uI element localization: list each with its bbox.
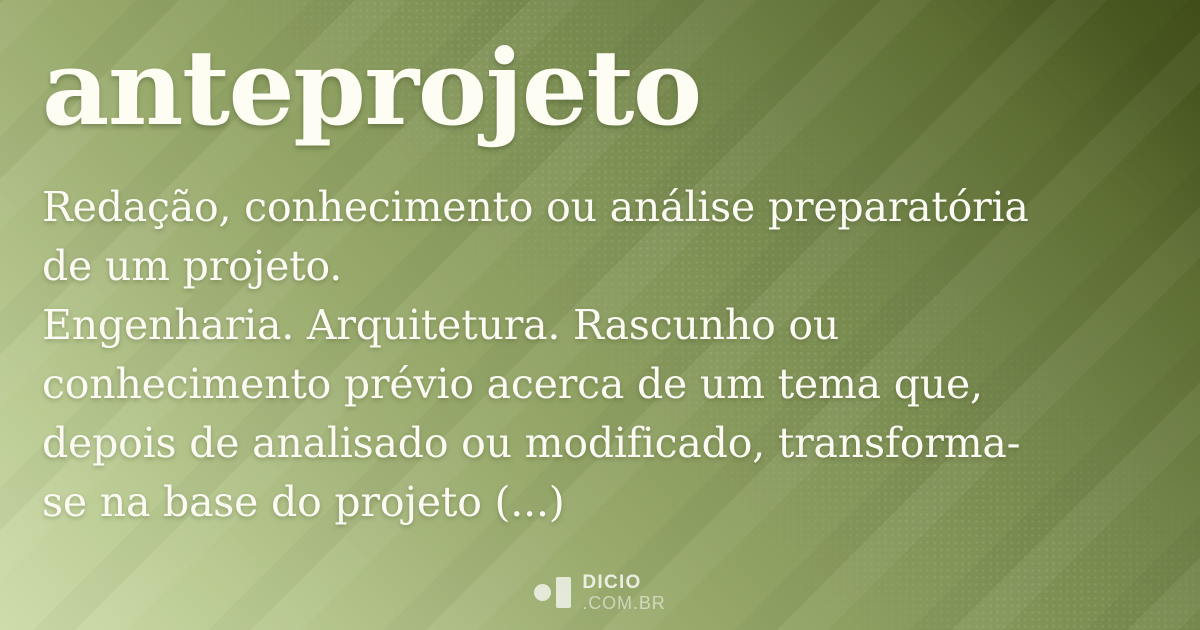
definition-line: Redação, conhecimento ou análise prepara… — [42, 178, 1166, 237]
dicio-definition-card: anteprojeto Redação, conhecimento ou aná… — [0, 0, 1200, 630]
definition-line: conhecimento prévio acerca de um tema qu… — [42, 355, 1166, 414]
logo-tld: .COM.BR — [582, 594, 665, 612]
definition-block: Redação, conhecimento ou análise prepara… — [42, 178, 1166, 532]
dicio-logo: DICIO .COM.BR — [0, 573, 1200, 612]
card-content: anteprojeto Redação, conhecimento ou aná… — [0, 0, 1200, 630]
logo-name: DICIO — [582, 573, 665, 592]
page-title: anteprojeto — [42, 30, 701, 146]
logo-bar-icon — [556, 577, 571, 608]
logo-circle-icon — [534, 584, 551, 601]
logo-mark-icon — [534, 577, 571, 608]
definition-line: se na base do projeto (...) — [42, 473, 1166, 532]
definition-line: Engenharia. Arquitetura. Rascunho ou — [42, 296, 1166, 355]
definition-line: de um projeto. — [42, 237, 1166, 296]
logo-wordmark: DICIO .COM.BR — [582, 573, 665, 612]
definition-line: depois de analisado ou modificado, trans… — [42, 414, 1166, 473]
